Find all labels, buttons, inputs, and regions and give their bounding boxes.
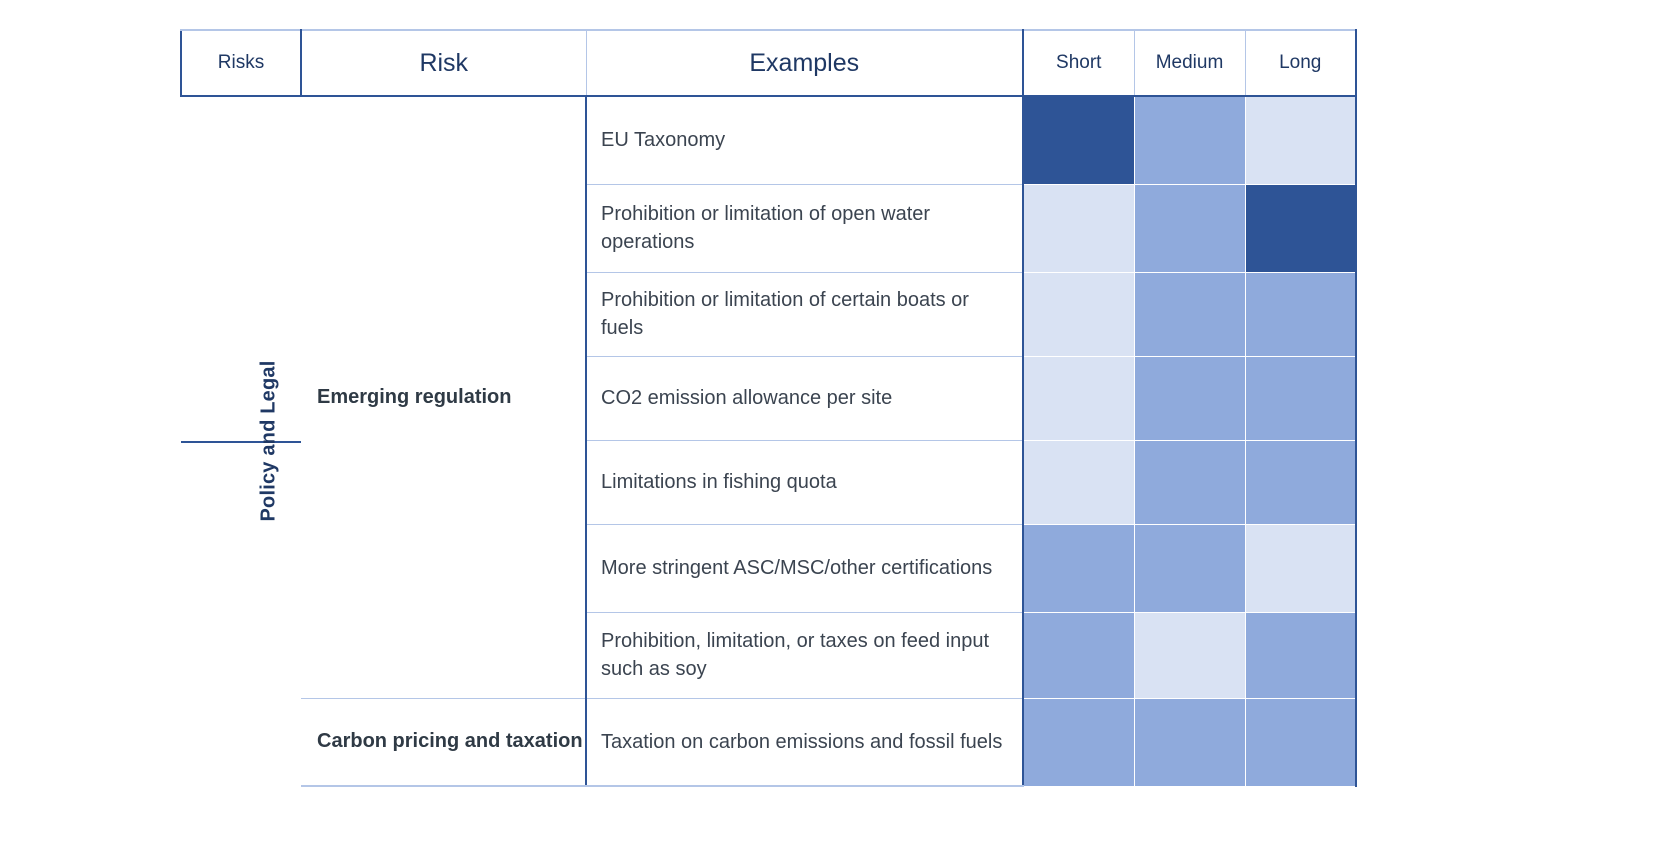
heat-cell-short-term [1023, 698, 1134, 786]
category-spacer [182, 441, 236, 442]
heat-cell-short-term [1023, 440, 1134, 524]
column-header-long: Long [1245, 30, 1356, 96]
table-body: Policy and LegalEmerging regulationEU Ta… [181, 96, 1356, 786]
column-header-risk: Risk [301, 30, 586, 96]
heat-cell-medium-term [1134, 356, 1245, 440]
heat-cell-short-term [1023, 356, 1134, 440]
column-header-medium: Medium [1134, 30, 1245, 96]
table-row: Carbon pricing and taxationTaxation on c… [181, 698, 1356, 786]
heat-cell-short-term [1023, 96, 1134, 184]
example-cell: Prohibition, limitation, or taxes on fee… [586, 612, 1023, 698]
example-cell: Taxation on carbon emissions and fossil … [586, 698, 1023, 786]
heat-cell-medium-term [1134, 524, 1245, 612]
climate-risk-matrix-table: Risks Risk Examples Short Medium Long Po… [180, 29, 1357, 787]
heat-cell-short-term [1023, 612, 1134, 698]
column-header-risks: Risks [181, 30, 301, 96]
category-label-cell: Policy and Legal [236, 441, 302, 442]
heat-cell-medium-term [1134, 440, 1245, 524]
risk-group-label: Carbon pricing and taxation [301, 698, 586, 786]
heat-cell-long-term [1245, 272, 1356, 356]
heat-cell-long-term [1245, 612, 1356, 698]
heat-cell-medium-term [1134, 612, 1245, 698]
column-header-short: Short [1023, 30, 1134, 96]
category-label: Policy and Legal [257, 360, 280, 521]
risk-group-label: Emerging regulation [301, 96, 586, 698]
heat-cell-short-term [1023, 524, 1134, 612]
example-cell: Prohibition or limitation of certain boa… [586, 272, 1023, 356]
table-row: Policy and LegalEmerging regulationEU Ta… [181, 96, 1356, 184]
heat-cell-long-term [1245, 356, 1356, 440]
risks-column-cell: Policy and Legal [181, 96, 301, 786]
example-cell: CO2 emission allowance per site [586, 356, 1023, 440]
heat-cell-short-term [1023, 184, 1134, 272]
example-cell: More stringent ASC/MSC/other certificati… [586, 524, 1023, 612]
example-cell: EU Taxonomy [586, 96, 1023, 184]
heat-cell-medium-term [1134, 272, 1245, 356]
table-header: Risks Risk Examples Short Medium Long [181, 30, 1356, 96]
header-row: Risks Risk Examples Short Medium Long [181, 30, 1356, 96]
heat-cell-long-term [1245, 698, 1356, 786]
heat-cell-medium-term [1134, 184, 1245, 272]
heat-cell-long-term [1245, 440, 1356, 524]
heat-cell-long-term [1245, 184, 1356, 272]
heat-cell-short-term [1023, 272, 1134, 356]
heat-cell-long-term [1245, 96, 1356, 184]
column-header-examples: Examples [586, 30, 1023, 96]
heat-cell-medium-term [1134, 96, 1245, 184]
heat-cell-long-term [1245, 524, 1356, 612]
heat-cell-medium-term [1134, 698, 1245, 786]
example-cell: Limitations in fishing quota [586, 440, 1023, 524]
page-root: Risks Risk Examples Short Medium Long Po… [0, 0, 1680, 841]
example-cell: Prohibition or limitation of open water … [586, 184, 1023, 272]
